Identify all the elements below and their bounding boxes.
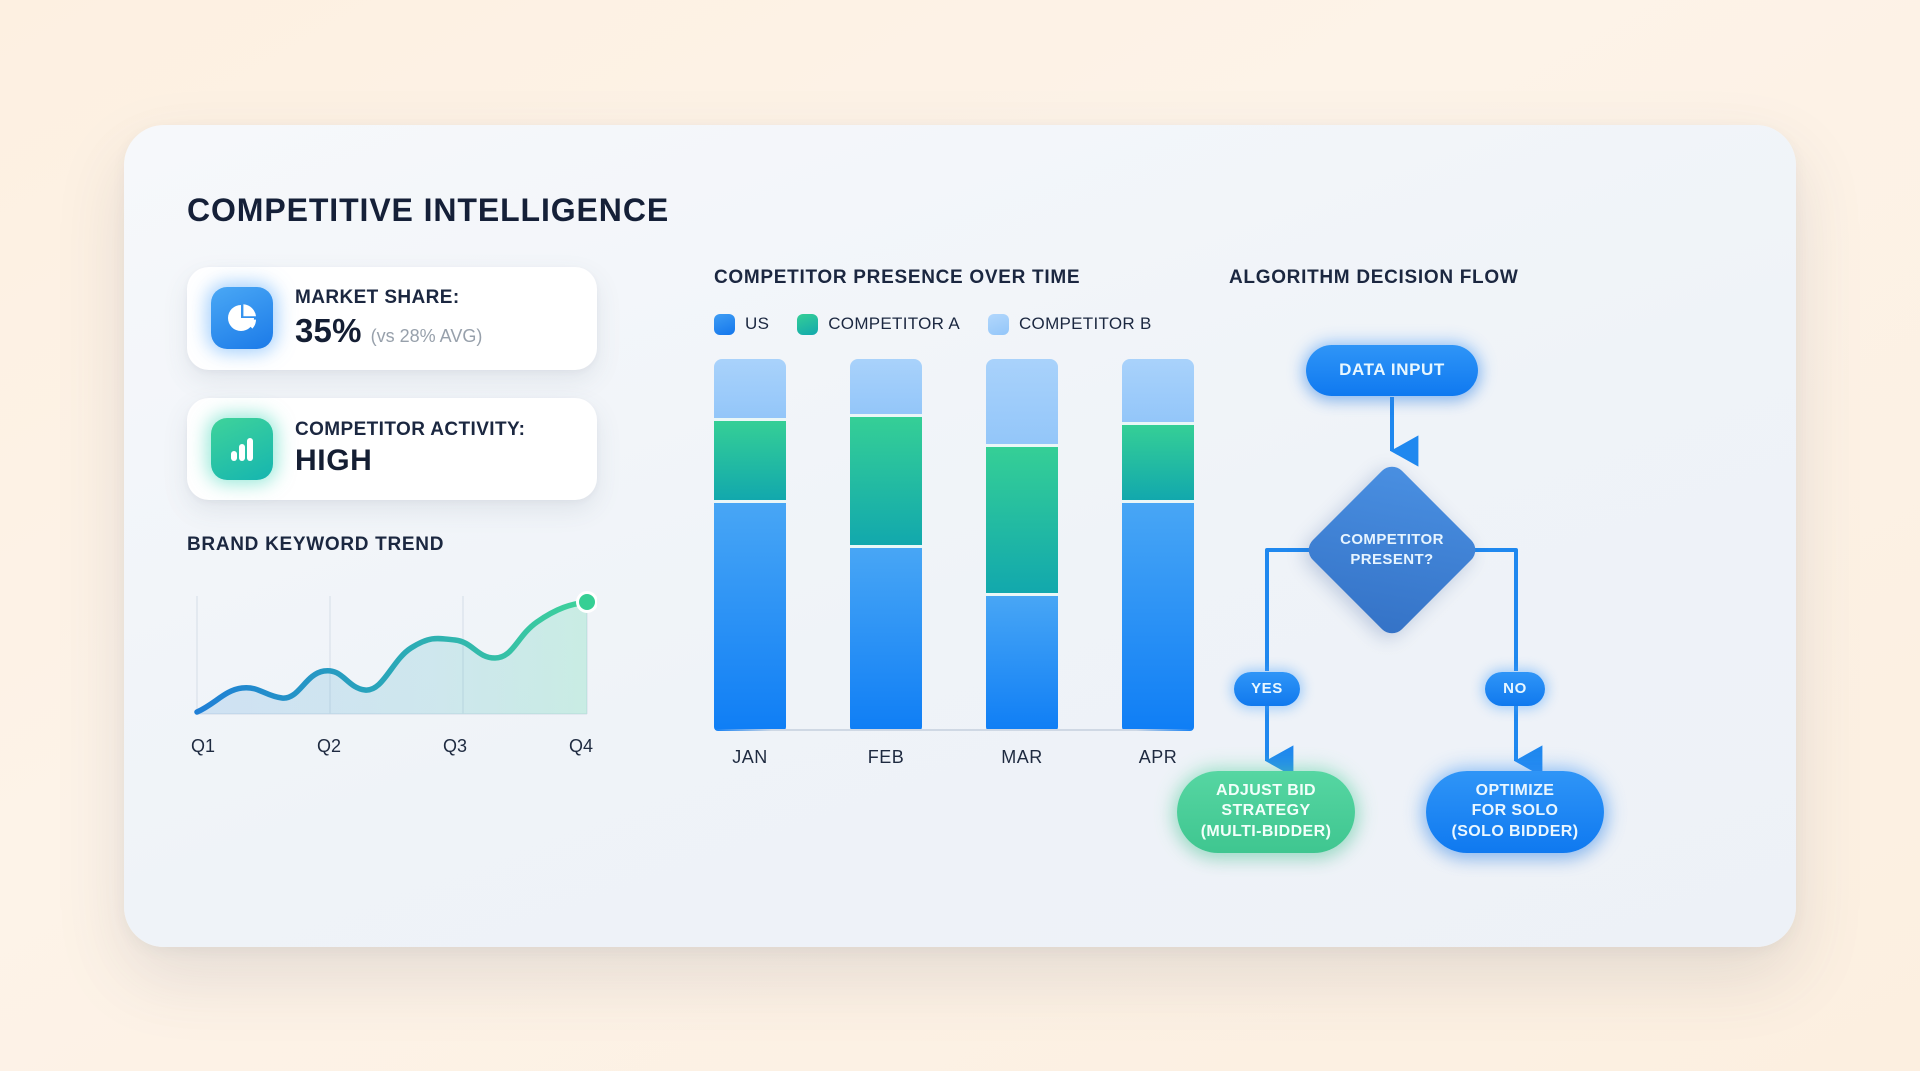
bar-chart-legend: US COMPETITOR A COMPETITOR B <box>714 314 1194 335</box>
stacked-bar-chart <box>714 359 1194 731</box>
bar-segment-us <box>986 593 1058 731</box>
legend-label-competitor-b: COMPETITOR B <box>1019 314 1152 334</box>
out-right-line3: (SOLO BIDDER) <box>1452 822 1579 842</box>
flowchart-canvas: DATA INPUT COMPETITOR PRESENT? YES NO AD… <box>1229 309 1689 889</box>
competitor-presence-section: COMPETITOR PRESENCE OVER TIME US COMPETI… <box>714 267 1194 768</box>
market-share-benchmark: (vs 28% AVG) <box>371 326 483 347</box>
market-share-value: 35% <box>295 312 362 350</box>
flow-node-adjust-bid-strategy[interactable]: ADJUST BID STRATEGY (MULTI-BIDDER) <box>1177 771 1355 853</box>
flow-node-competitor-present-label: COMPETITOR PRESENT? <box>1340 530 1444 568</box>
bar-column-mar[interactable] <box>986 359 1058 731</box>
competitor-activity-label: COMPETITOR ACTIVITY: <box>295 419 525 441</box>
flow-edge-label-yes[interactable]: YES <box>1234 672 1300 706</box>
bar-segment-us <box>850 545 922 731</box>
trend-xlabel-q3: Q3 <box>443 736 467 757</box>
legend-swatch-competitor-b <box>988 314 1009 335</box>
out-left-line1: ADJUST BID <box>1201 781 1332 801</box>
algorithm-decision-flow-title: ALGORITHM DECISION FLOW <box>1229 267 1689 289</box>
out-right-line2: FOR SOLO <box>1452 801 1579 821</box>
bar-segment-competitor-a <box>714 418 786 500</box>
bar-segment-competitor-b <box>1122 359 1194 422</box>
market-share-card[interactable]: MARKET SHARE: 35% (vs 28% AVG) <box>187 267 597 370</box>
flow-edge-label-yes-text: YES <box>1251 680 1283 697</box>
brand-keyword-trend-section: BRAND KEYWORD TREND <box>187 534 597 757</box>
bar-segment-competitor-b <box>714 359 786 419</box>
competitor-activity-text: COMPETITOR ACTIVITY: HIGH <box>295 419 525 478</box>
flow-edge-label-no[interactable]: NO <box>1485 672 1545 706</box>
market-share-value-row: 35% (vs 28% AVG) <box>295 312 482 350</box>
legend-item-us[interactable]: US <box>714 314 769 335</box>
flow-node-adjust-bid-strategy-label: ADJUST BID STRATEGY (MULTI-BIDDER) <box>1201 781 1332 842</box>
bar-xlabel-feb: FEB <box>850 747 922 768</box>
trend-axis-labels: Q1 Q2 Q3 Q4 <box>187 736 597 757</box>
competitor-activity-card[interactable]: COMPETITOR ACTIVITY: HIGH <box>187 398 597 500</box>
page-title: COMPETITIVE INTELLIGENCE <box>187 192 669 229</box>
bar-column-feb[interactable] <box>850 359 922 731</box>
decision-label-line1: COMPETITOR <box>1340 530 1444 549</box>
legend-label-competitor-a: COMPETITOR A <box>828 314 960 334</box>
bar-segment-competitor-b <box>986 359 1058 445</box>
flow-edge-label-no-text: NO <box>1503 680 1527 697</box>
market-share-label: MARKET SHARE: <box>295 287 482 309</box>
bar-chart-icon <box>211 418 273 480</box>
bar-chart-axis-labels: JAN FEB MAR APR <box>714 747 1194 768</box>
market-share-text: MARKET SHARE: 35% (vs 28% AVG) <box>295 287 482 350</box>
out-right-line1: OPTIMIZE <box>1452 781 1579 801</box>
left-column: MARKET SHARE: 35% (vs 28% AVG) COMPETITO… <box>187 267 597 757</box>
pie-chart-icon <box>211 287 273 349</box>
out-left-line2: STRATEGY <box>1201 801 1332 821</box>
flow-node-competitor-present[interactable]: COMPETITOR PRESENT? <box>1303 461 1481 639</box>
brand-keyword-trend-chart <box>187 578 597 723</box>
bar-segment-us <box>714 500 786 731</box>
flow-node-data-input-label: DATA INPUT <box>1339 360 1445 380</box>
decision-label-line2: PRESENT? <box>1340 550 1444 569</box>
dashboard-panel: COMPETITIVE INTELLIGENCE MARKET SHARE: 3… <box>124 125 1796 947</box>
bar-segment-competitor-b <box>850 359 922 415</box>
brand-keyword-trend-title: BRAND KEYWORD TREND <box>187 534 597 556</box>
out-left-line3: (MULTI-BIDDER) <box>1201 822 1332 842</box>
bar-xlabel-mar: MAR <box>986 747 1058 768</box>
trend-xlabel-q2: Q2 <box>317 736 341 757</box>
bar-segment-competitor-a <box>850 414 922 544</box>
bar-segment-competitor-a <box>986 444 1058 593</box>
legend-item-competitor-b[interactable]: COMPETITOR B <box>988 314 1152 335</box>
competitor-presence-title: COMPETITOR PRESENCE OVER TIME <box>714 267 1194 289</box>
bar-column-jan[interactable] <box>714 359 786 731</box>
legend-label-us: US <box>745 314 769 334</box>
bar-xlabel-apr: APR <box>1122 747 1194 768</box>
legend-swatch-competitor-a <box>797 314 818 335</box>
legend-swatch-us <box>714 314 735 335</box>
bar-segment-competitor-a <box>1122 422 1194 500</box>
trend-xlabel-q1: Q1 <box>191 736 215 757</box>
trend-xlabel-q4: Q4 <box>569 736 593 757</box>
bar-xlabel-jan: JAN <box>714 747 786 768</box>
flow-node-data-input[interactable]: DATA INPUT <box>1306 345 1478 396</box>
competitor-activity-value: HIGH <box>295 444 525 478</box>
bar-column-apr[interactable] <box>1122 359 1194 731</box>
flow-node-optimize-for-solo[interactable]: OPTIMIZE FOR SOLO (SOLO BIDDER) <box>1426 771 1604 853</box>
bar-segment-us <box>1122 500 1194 731</box>
flow-node-optimize-for-solo-label: OPTIMIZE FOR SOLO (SOLO BIDDER) <box>1452 781 1579 842</box>
legend-item-competitor-a[interactable]: COMPETITOR A <box>797 314 960 335</box>
algorithm-decision-flow-section: ALGORITHM DECISION FLOW <box>1229 267 1689 887</box>
